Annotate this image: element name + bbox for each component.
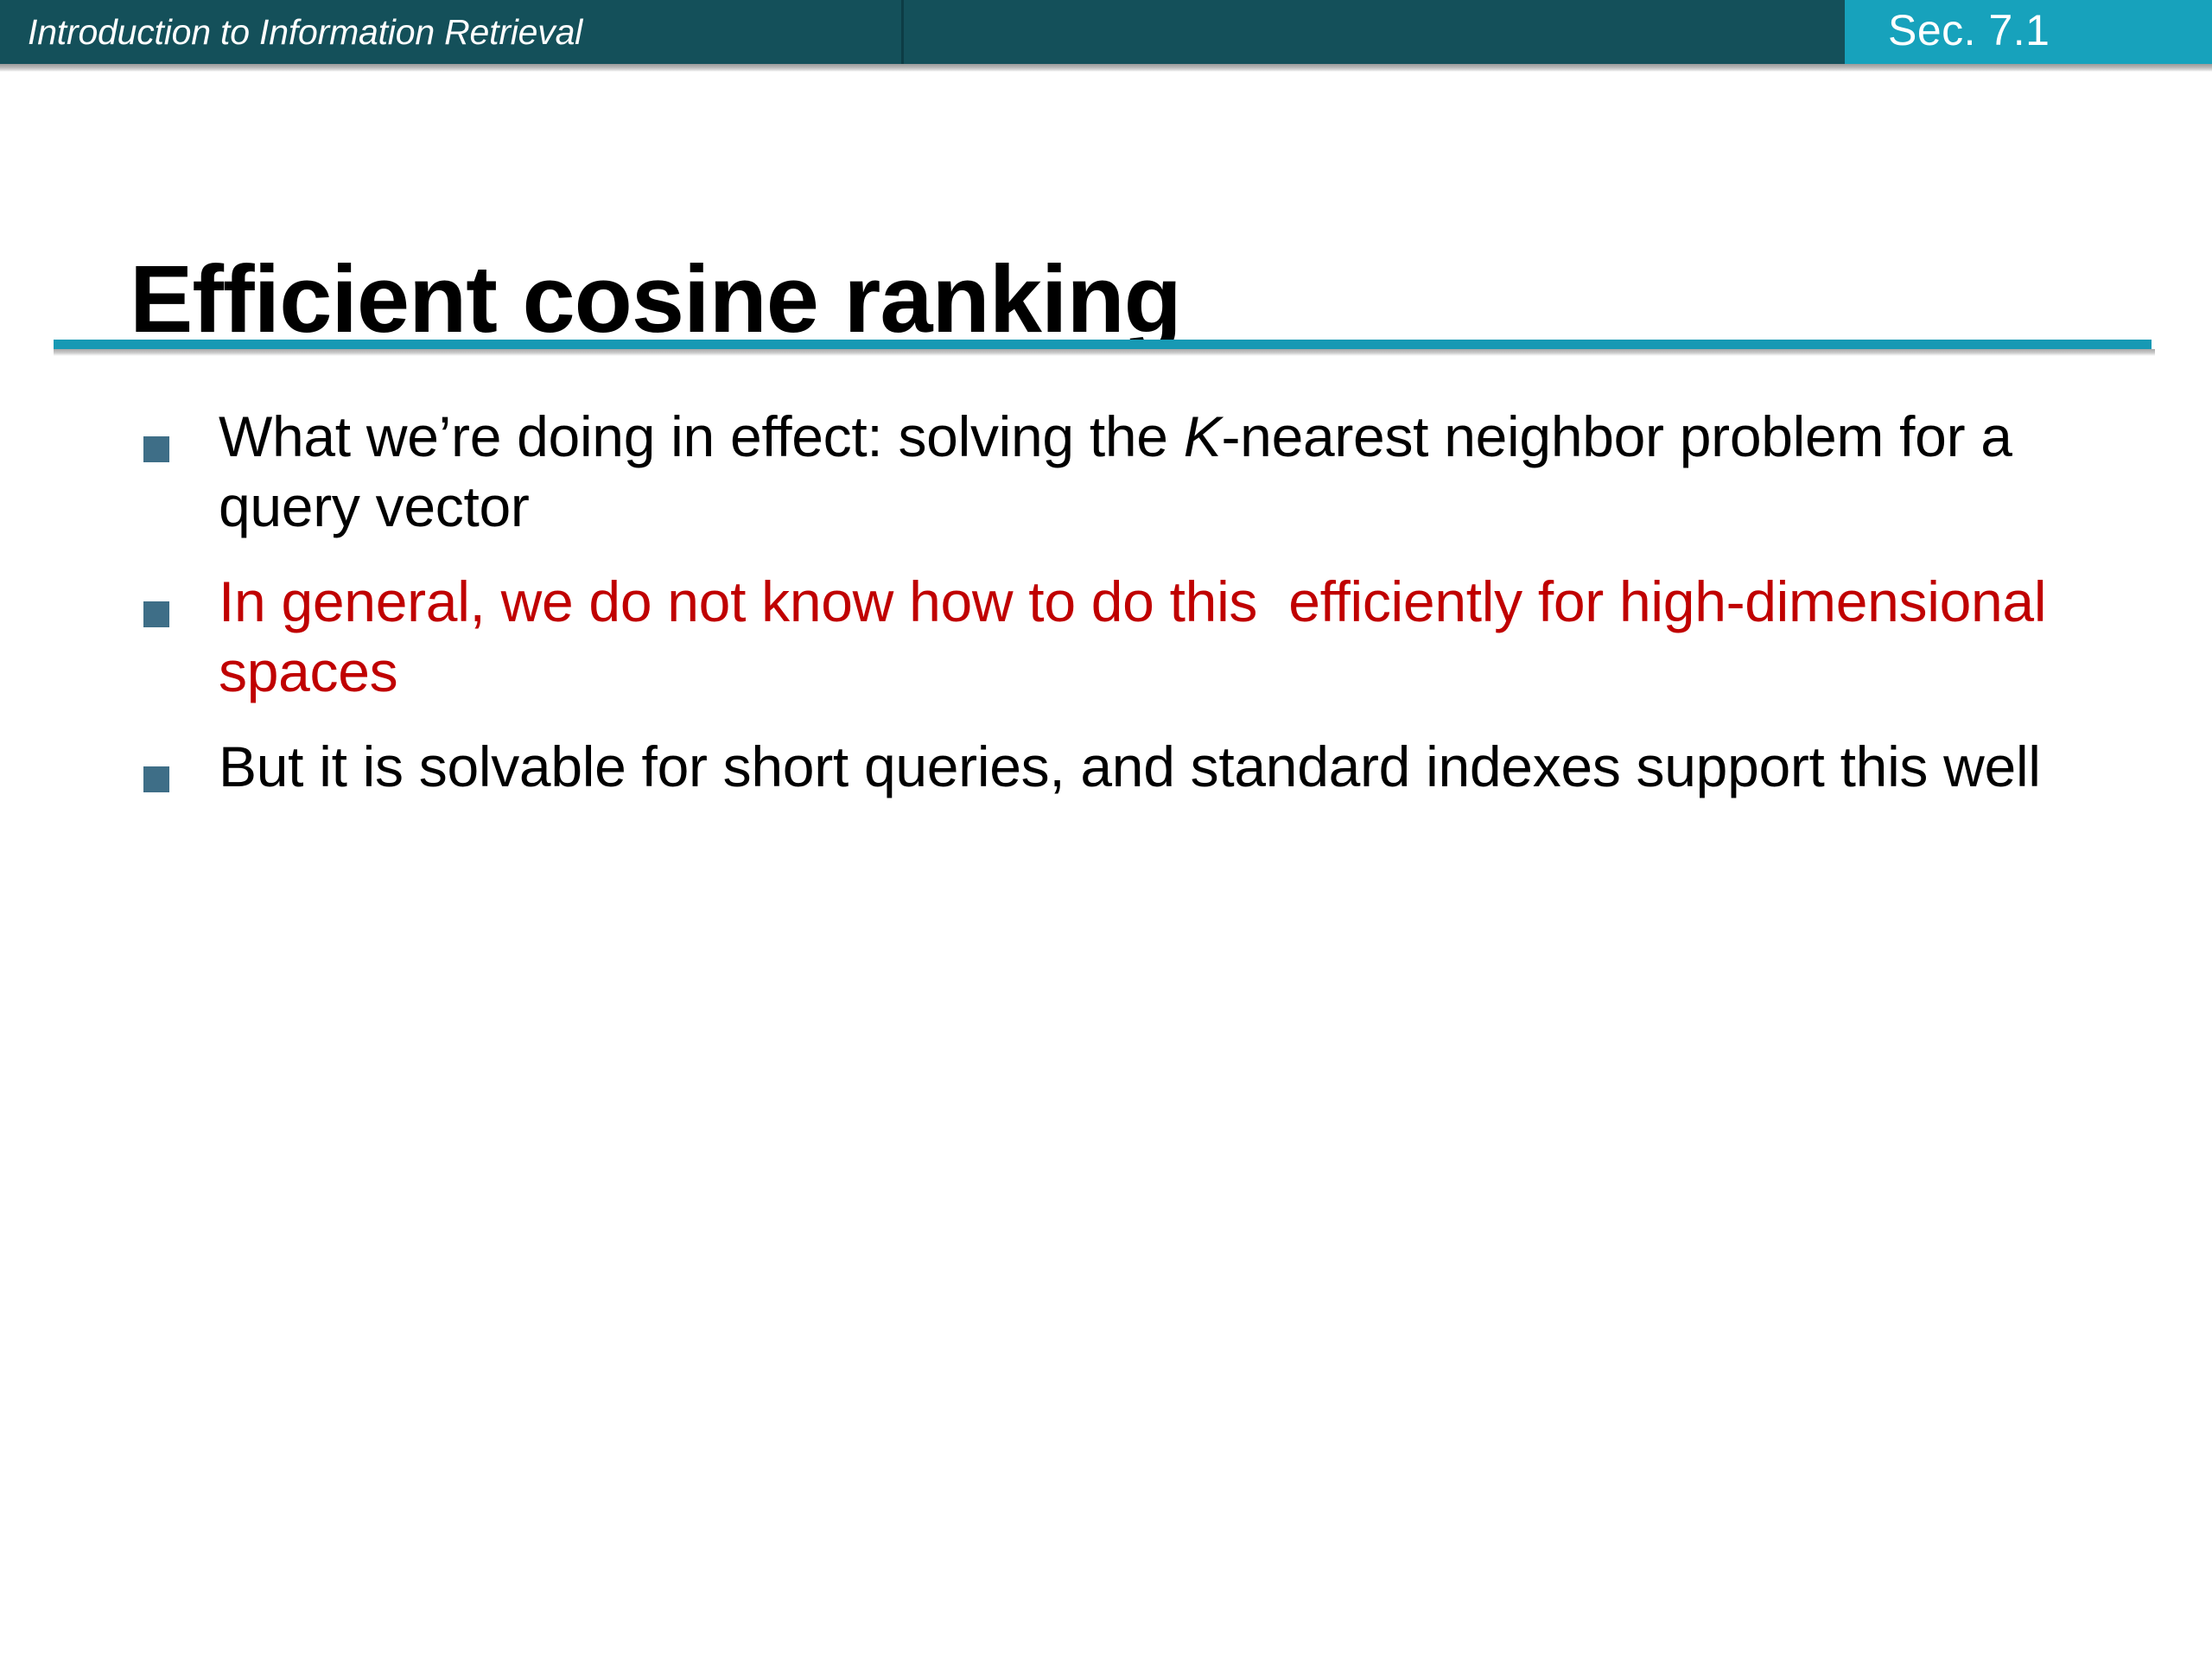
title-underline-shadow [54,349,2155,356]
bullet-text-short-queries: But it is solvable for short queries, an… [219,732,2108,802]
bullet-knn-italic-k: K [1184,404,1222,468]
slide-title: Efficient cosine ranking [130,250,1181,350]
title-underline-rule [54,340,2152,349]
header-bar-shadow [0,64,2212,72]
bullet-text-high-dimensional: In general, we do not know how to do thi… [219,567,2108,706]
list-item: In general, we do not know how to do thi… [0,567,2212,706]
slide: Introduction to Information Retrieval Se… [0,0,2212,1659]
course-title: Introduction to Information Retrieval [28,0,582,64]
bullet-list: What we’re doing in effect: solving the … [0,402,2212,828]
section-badge-label: Sec. 7.1 [1888,0,2050,64]
list-item: But it is solvable for short queries, an… [0,732,2212,802]
square-bullet-icon [143,601,169,627]
header-divider [901,0,904,64]
bullet-text-knn: What we’re doing in effect: solving the … [219,402,2108,541]
bullet-knn-part1: What we’re doing in effect: solving the [219,404,1184,468]
list-item: What we’re doing in effect: solving the … [0,402,2212,541]
square-bullet-icon [143,436,169,462]
square-bullet-icon [143,766,169,792]
